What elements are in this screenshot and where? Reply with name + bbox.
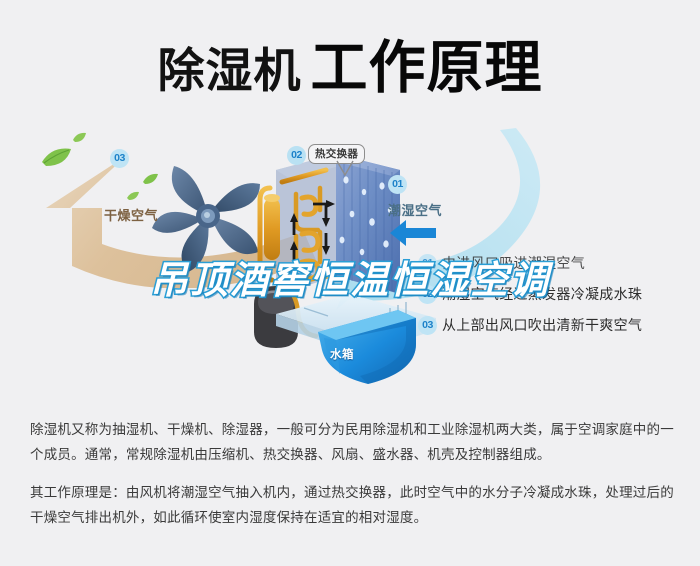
leaf-icon [72, 131, 87, 144]
paragraph-two: 其工作原理是：由风机将潮湿空气抽入机内，通过热交换器，此时空气中的水分子冷凝成水… [30, 481, 675, 531]
paragraph-one: 除湿机又称为抽湿机、干燥机、除湿器，一般可分为民用除湿机和工业除湿机两大类，属于… [30, 418, 675, 468]
page-title-secondary: 工作原理 [311, 36, 543, 100]
callout-pointer-icon [336, 160, 354, 177]
diagram-badge-dry-air: 03 [110, 149, 129, 168]
legend-item: 03从上部出风口吹出清新干爽空气 [418, 315, 698, 346]
humid-air-label: 潮湿空气 [388, 200, 442, 219]
diagram-badge-humid-air: 01 [388, 175, 407, 194]
body-copy: 除湿机又称为抽湿机、干燥机、除湿器，一般可分为民用除湿机和工业除湿机两大类，属于… [30, 418, 675, 531]
page-title: 除湿机工作原理 [0, 22, 700, 104]
legend-badge: 03 [418, 316, 437, 335]
legend-label: 从上部出风口吹出清新干爽空气 [442, 315, 642, 335]
dry-air-label: 干燥空气 [104, 205, 158, 224]
leaf-icon [40, 144, 74, 170]
water-tank-label: 水箱 [330, 346, 354, 362]
watermark-text: 吊顶酒窖恒温恒湿空调 [0, 262, 700, 300]
page-title-primary: 除湿机 [158, 44, 302, 97]
diagram-badge-heat-exchanger: 02 [287, 146, 306, 165]
leaf-icon [126, 190, 140, 202]
poster-root: 除湿机工作原理 [0, 0, 700, 566]
